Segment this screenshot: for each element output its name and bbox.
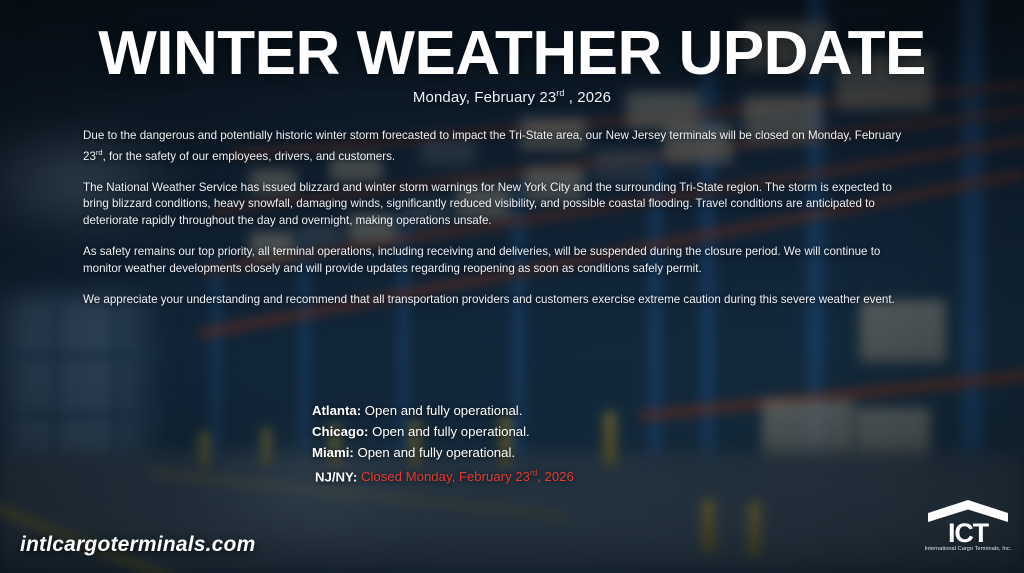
terminal-name-chicago: Chicago: xyxy=(312,424,368,439)
logo-wordmark: ICT xyxy=(922,520,1014,547)
subtitle-date: Monday, February 23rd , 2026 xyxy=(0,88,1024,106)
slide-content: WINTER WEATHER UPDATE Monday, February 2… xyxy=(0,0,1024,573)
terminal-name-njny: NJ/NY: xyxy=(315,469,357,484)
paragraph-nws-warning: The National Weather Service has issued … xyxy=(83,180,913,230)
paragraph-closing-remarks: We appreciate your understanding and rec… xyxy=(83,292,913,309)
terminal-status-row-chicago: Chicago: Open and fully operational. xyxy=(312,421,742,442)
terminal-status-row-miami: Miami: Open and fully operational. xyxy=(312,442,742,463)
terminal-name-miami: Miami: xyxy=(312,445,354,460)
terminal-status-miami: Open and fully operational. xyxy=(357,445,515,460)
website-url[interactable]: intlcargoterminals.com xyxy=(20,533,255,557)
subtitle-date-ordinal: rd xyxy=(556,88,564,98)
njny-status-text-a: Closed Monday, February 23 xyxy=(361,469,530,484)
njny-status-text-b: , 2026 xyxy=(537,469,574,484)
terminal-status-njny: Closed Monday, February 23rd, 2026 xyxy=(361,469,574,484)
terminal-status-row-njny: NJ/NY: Closed Monday, February 23rd, 202… xyxy=(312,463,742,487)
terminal-name-atlanta: Atlanta: xyxy=(312,403,361,418)
logo-tagline: International Cargo Terminals, Inc. xyxy=(918,547,1018,553)
winter-weather-update-slide: WINTER WEATHER UPDATE Monday, February 2… xyxy=(0,0,1024,573)
paragraph-operations-suspended: As safety remains our top priority, all … xyxy=(83,244,913,277)
terminal-status-list: Atlanta: Open and fully operational. Chi… xyxy=(312,400,742,487)
subtitle-date-suffix: , 2026 xyxy=(565,89,612,106)
page-title: WINTER WEATHER UPDATE xyxy=(0,23,1024,85)
terminal-status-chicago: Open and fully operational. xyxy=(372,424,530,439)
announcement-body: Due to the dangerous and potentially his… xyxy=(83,128,913,309)
terminal-status-atlanta: Open and fully operational. xyxy=(365,403,523,418)
paragraph-1-ordinal: rd xyxy=(96,148,103,157)
paragraph-1-text-b: , for the safety of our employees, drive… xyxy=(103,149,396,162)
terminal-status-row-atlanta: Atlanta: Open and fully operational. xyxy=(312,400,742,421)
paragraph-closure-notice: Due to the dangerous and potentially his… xyxy=(83,128,913,165)
subtitle-date-prefix: Monday, February 23 xyxy=(413,89,556,106)
ict-logo[interactable]: ICT International Cargo Terminals, Inc. xyxy=(922,500,1014,562)
